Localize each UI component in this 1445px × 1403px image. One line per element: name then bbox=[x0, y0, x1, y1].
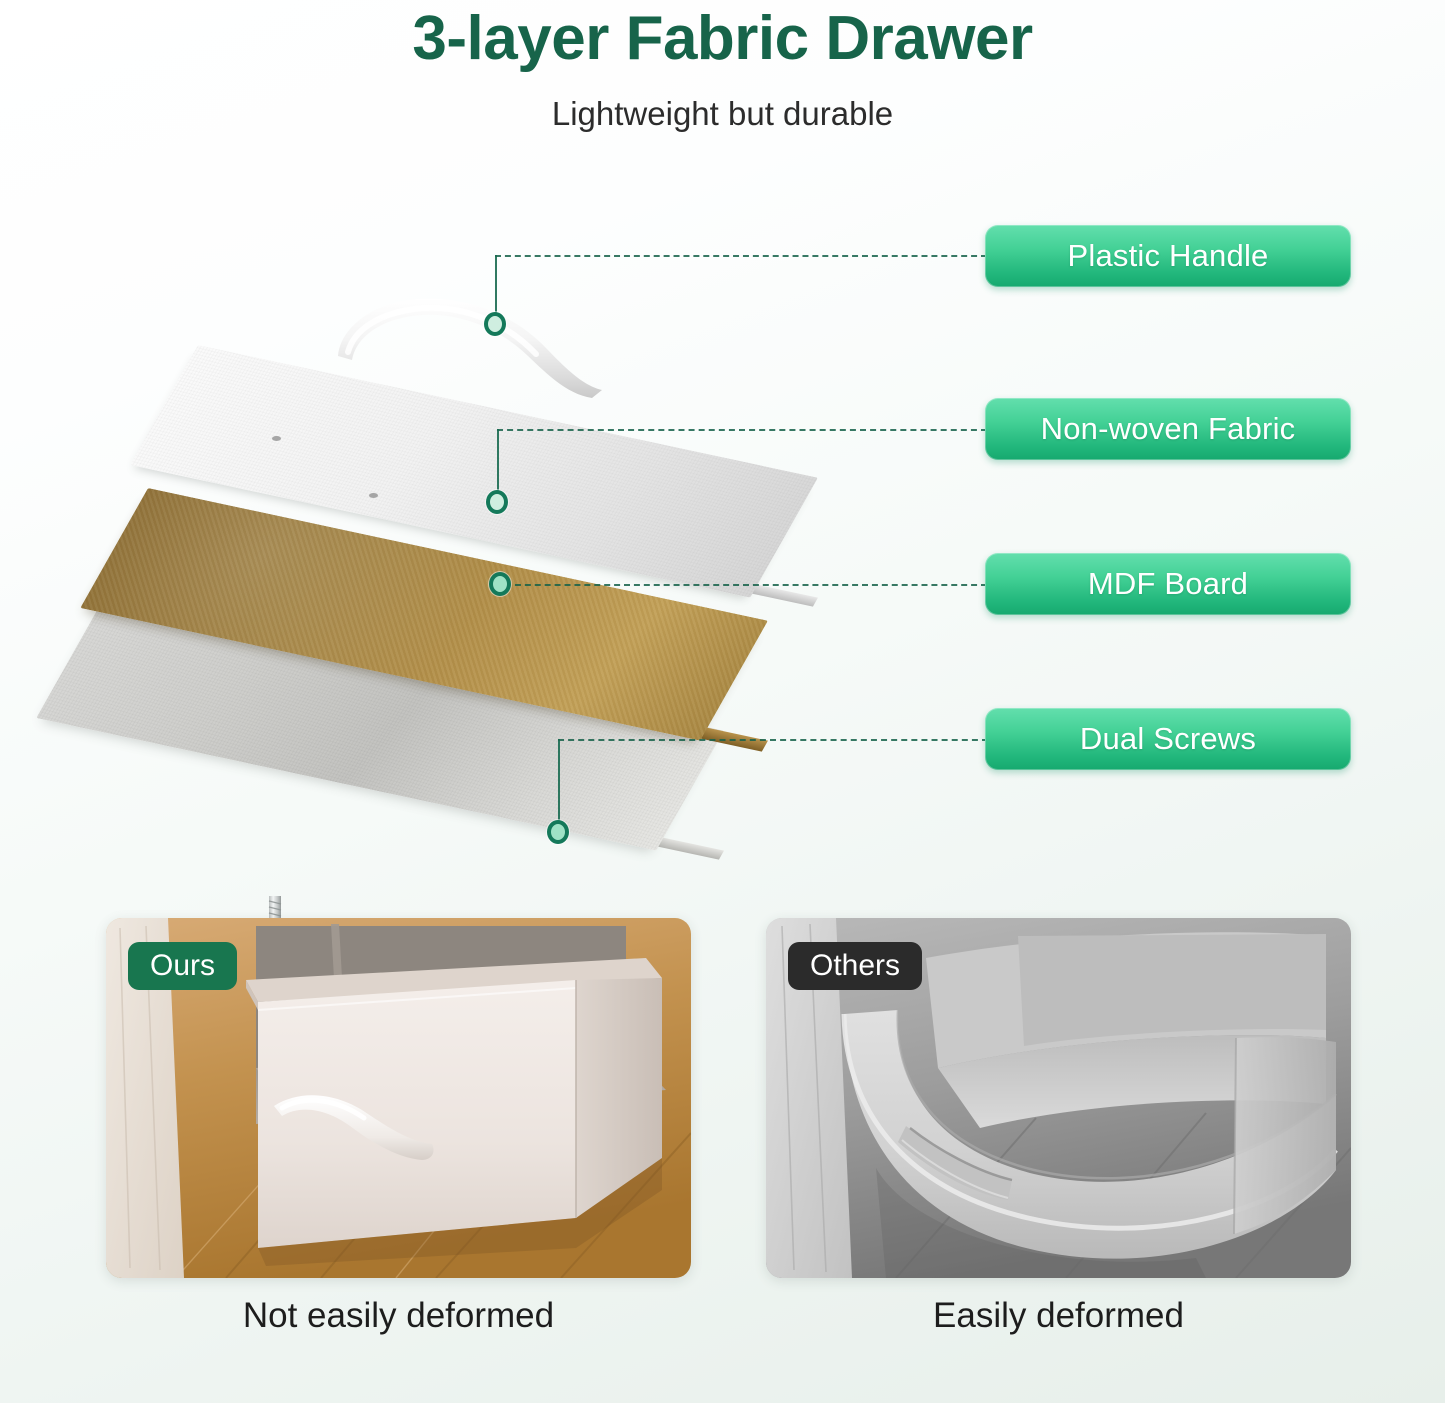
screw-hole bbox=[369, 493, 378, 498]
callout-dual-screws[interactable]: Dual Screws bbox=[985, 708, 1351, 770]
callout-plastic-handle[interactable]: Plastic Handle bbox=[985, 225, 1351, 287]
badge-label: Ours bbox=[150, 949, 215, 983]
badge-label: Others bbox=[810, 949, 900, 983]
photo-card-ours: Ours bbox=[106, 918, 691, 1278]
callout-non-woven-fabric[interactable]: Non-woven Fabric bbox=[985, 398, 1351, 460]
connector-line-non-woven-fabric bbox=[497, 429, 987, 431]
exploded-view-diagram: Plastic Handle Non-woven Fabric MDF Boar… bbox=[0, 170, 1445, 910]
infographic-page: 3-layer Fabric Drawer Lightweight but du… bbox=[0, 0, 1445, 1403]
plastic-handle-icon bbox=[330, 290, 630, 400]
connector-line-mdf-board bbox=[505, 584, 987, 586]
connector-stem-plastic-handle bbox=[495, 255, 497, 318]
connector-marker-mdf-board bbox=[489, 572, 511, 596]
page-subtitle: Lightweight but durable bbox=[0, 71, 1445, 133]
callout-mdf-board[interactable]: MDF Board bbox=[985, 553, 1351, 615]
header: 3-layer Fabric Drawer Lightweight but du… bbox=[0, 0, 1445, 133]
connector-marker-dual-screws bbox=[547, 820, 569, 844]
connector-stem-non-woven-fabric bbox=[497, 429, 499, 496]
badge-ours: Ours bbox=[128, 942, 237, 990]
comparison-section: Ours Not easily deformed bbox=[0, 918, 1445, 1403]
connector-marker-non-woven-fabric bbox=[486, 490, 508, 514]
connector-marker-plastic-handle bbox=[484, 312, 506, 336]
caption-ours: Not easily deformed bbox=[106, 1296, 691, 1336]
screw-hole bbox=[272, 436, 281, 441]
page-title: 3-layer Fabric Drawer bbox=[0, 0, 1445, 71]
connector-line-dual-screws bbox=[558, 739, 988, 741]
caption-others: Easily deformed bbox=[766, 1296, 1351, 1336]
callout-label: MDF Board bbox=[1088, 566, 1248, 602]
badge-others: Others bbox=[788, 942, 922, 990]
connector-line-plastic-handle bbox=[495, 255, 987, 257]
callout-label: Dual Screws bbox=[1080, 721, 1256, 757]
connector-stem-dual-screws bbox=[558, 739, 560, 829]
callout-label: Non-woven Fabric bbox=[1041, 411, 1296, 447]
callout-label: Plastic Handle bbox=[1068, 238, 1269, 274]
photo-card-others: Others bbox=[766, 918, 1351, 1278]
